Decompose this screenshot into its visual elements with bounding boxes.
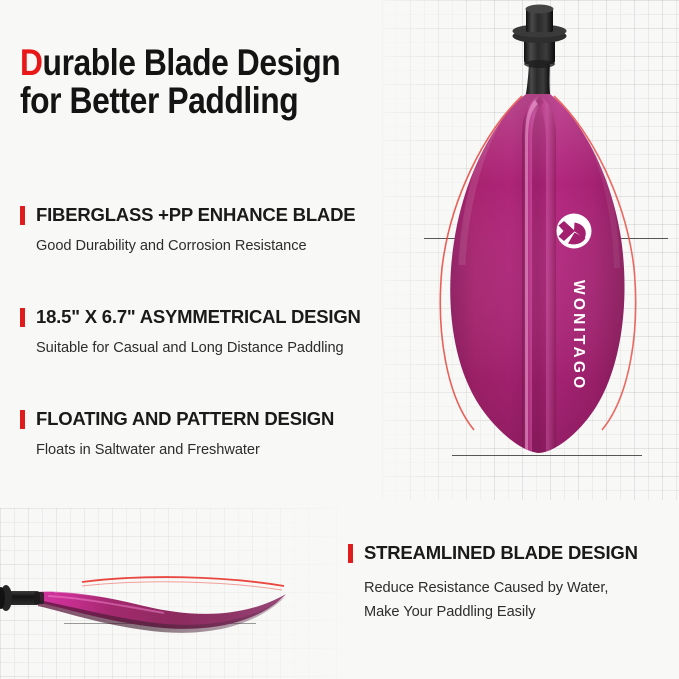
paddle-blade-front-view: WONITAGO [398, 0, 679, 470]
red-bar-marker-icon [20, 410, 25, 429]
red-bar-marker-icon [20, 206, 25, 225]
feature-heading-row: FLOATING AND PATTERN DESIGN [20, 409, 410, 429]
feature-title: FLOATING AND PATTERN DESIGN [36, 409, 334, 429]
feature-title: 18.5" X 6.7" ASYMMETRICAL DESIGN [36, 307, 361, 327]
paddle-shaft-top [526, 5, 554, 14]
brand-name: WONITAGO [570, 280, 587, 391]
title-initial-letter: D [20, 42, 43, 83]
wonitago-arrow-logo-icon [557, 214, 592, 249]
feature-item-fiberglass: FIBERGLASS +PP ENHANCE BLADE Good Durabi… [20, 205, 410, 256]
red-bar-marker-icon [20, 308, 25, 327]
feature-subtitle: Suitable for Casual and Long Distance Pa… [36, 338, 410, 358]
paddle-ferrule-base [524, 60, 555, 68]
side-reference-curve-red-thin [82, 582, 282, 590]
page-title: Durable Blade Design for Better Paddling [20, 44, 347, 120]
feature-title: STREAMLINED BLADE DESIGN [364, 543, 638, 563]
feature-heading-row: FIBERGLASS +PP ENHANCE BLADE [20, 205, 410, 225]
side-paddle-joint [34, 592, 44, 604]
feature-heading-row: 18.5" X 6.7" ASYMMETRICAL DESIGN [20, 307, 410, 327]
feature-subtitle: Floats in Saltwater and Freshwater [36, 440, 410, 460]
paddle-blade-side-view [0, 556, 334, 646]
red-bar-marker-icon [348, 544, 353, 563]
title-text: urable Blade Design for Better Paddling [20, 42, 340, 121]
feature-heading-row: STREAMLINED BLADE DESIGN [348, 543, 678, 563]
blade-shading [450, 94, 624, 453]
feature-item-asymmetrical: 18.5" X 6.7" ASYMMETRICAL DESIGN Suitabl… [20, 307, 410, 358]
feature-title: FIBERGLASS +PP ENHANCE BLADE [36, 205, 355, 225]
feature-item-streamlined: STREAMLINED BLADE DESIGN Reduce Resistan… [348, 543, 678, 624]
feature-subtitle: Reduce Resistance Caused by Water, Make … [364, 576, 678, 624]
feature-subtitle: Good Durability and Corrosion Resistance [36, 236, 410, 256]
infographic-canvas: Durable Blade Design for Better Paddling… [0, 0, 679, 679]
feature-item-floating: FLOATING AND PATTERN DESIGN Floats in Sa… [20, 409, 410, 460]
